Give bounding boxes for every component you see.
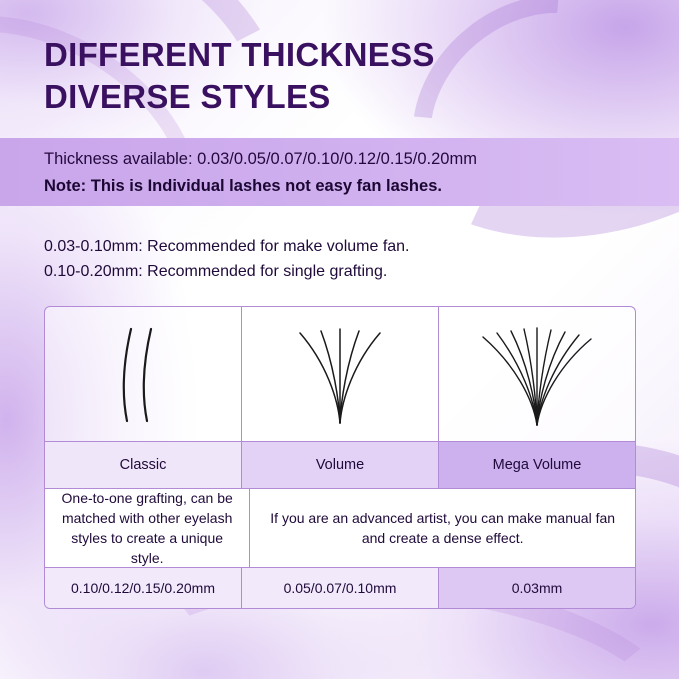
cell-sizes-classic: 0.10/0.12/0.15/0.20mm xyxy=(45,568,242,608)
cell-sizes-volume: 0.05/0.07/0.10mm xyxy=(242,568,439,608)
table-row-style-names: Classic Volume Mega Volume xyxy=(45,442,635,489)
cell-description-classic: One-to-one grafting, can be matched with… xyxy=(45,489,250,567)
cell-sizes-mega-volume: 0.03mm xyxy=(439,568,635,608)
lash-style-table: Classic Volume Mega Volume One-to-one gr… xyxy=(44,306,636,609)
recommendation-line-2: 0.10-0.20mm: Recommended for single graf… xyxy=(44,259,644,284)
cell-mega-volume-illustration xyxy=(439,307,635,441)
note-line: Note: This is Individual lashes not easy… xyxy=(44,173,644,200)
cell-description-volume-mega: If you are an advanced artist, you can m… xyxy=(250,489,635,567)
classic-lash-illustration xyxy=(45,307,241,441)
page-title-line-1: DIFFERENT THICKNESS xyxy=(44,36,435,73)
cell-classic-illustration xyxy=(45,307,242,441)
table-row-illustrations xyxy=(45,307,635,442)
mega-volume-fan-lash-illustration xyxy=(439,307,635,441)
cell-label-classic: Classic xyxy=(45,442,242,488)
recommendation-line-1: 0.03-0.10mm: Recommended for make volume… xyxy=(44,234,644,259)
table-row-descriptions: One-to-one grafting, can be matched with… xyxy=(45,489,635,568)
cell-volume-illustration xyxy=(242,307,439,441)
cell-label-mega-volume: Mega Volume xyxy=(439,442,635,488)
poster-page: DIFFERENT THICKNESS DIVERSE STYLES Thick… xyxy=(0,0,679,679)
page-title-line-2: DIVERSE STYLES xyxy=(44,76,644,118)
table-row-sizes: 0.10/0.12/0.15/0.20mm 0.05/0.07/0.10mm 0… xyxy=(45,568,635,608)
thickness-banner-text: Thickness available: 0.03/0.05/0.07/0.10… xyxy=(44,146,644,200)
cell-label-volume: Volume xyxy=(242,442,439,488)
recommendation-block: 0.03-0.10mm: Recommended for make volume… xyxy=(44,234,644,284)
thickness-available-line: Thickness available: 0.03/0.05/0.07/0.10… xyxy=(44,146,644,173)
volume-fan-lash-illustration xyxy=(242,307,438,441)
page-title: DIFFERENT THICKNESS DIVERSE STYLES xyxy=(44,34,644,118)
